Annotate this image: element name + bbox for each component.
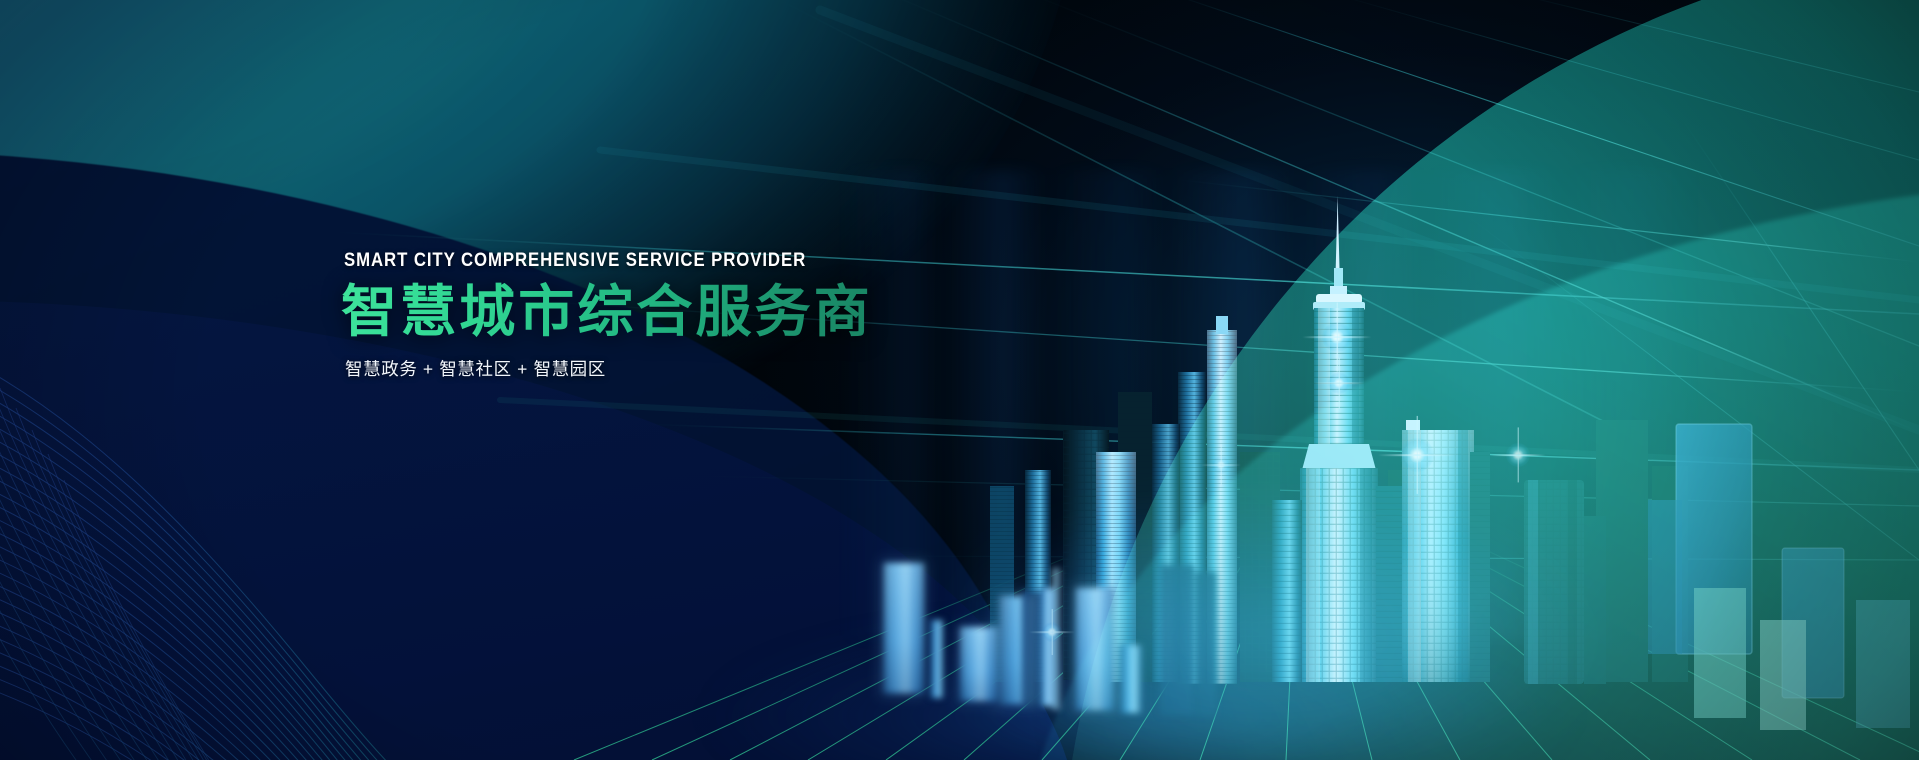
bottom-blue-glow (959, 470, 1739, 760)
hero-subline: 智慧政务 + 智慧社区 + 智慧园区 (345, 356, 881, 381)
hero-headline: 智慧城市综合服务商 (341, 282, 881, 342)
hero-copy-block: SMART CITY COMPREHENSIVE SERVICE PROVIDE… (344, 249, 881, 381)
hero-eyebrow: SMART CITY COMPREHENSIVE SERVICE PROVIDE… (344, 249, 806, 272)
smart-city-hero-banner: SMART CITY COMPREHENSIVE SERVICE PROVIDE… (0, 0, 1919, 760)
